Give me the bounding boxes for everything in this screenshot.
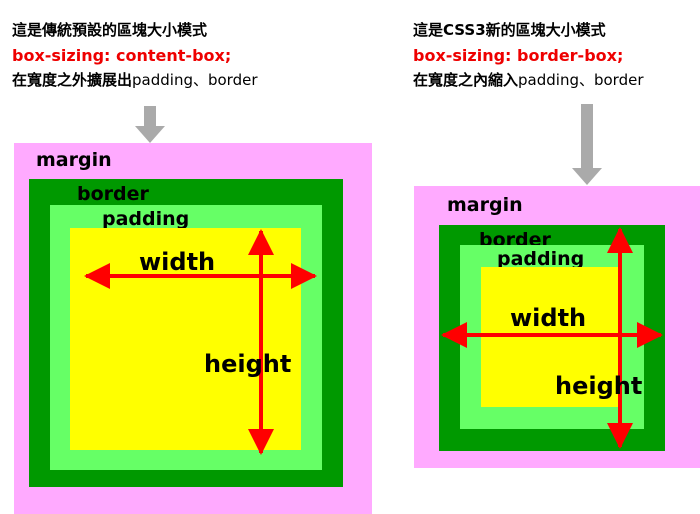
height-arrow-head-bottom xyxy=(248,429,274,455)
down-arrow-icon-right xyxy=(572,104,602,186)
height-label-left: height xyxy=(204,352,291,376)
caption-line-3-light: padding、border xyxy=(518,71,643,89)
height-label-right: height xyxy=(555,374,642,398)
width-arrow-head-left xyxy=(441,322,467,348)
arrow-head xyxy=(572,168,602,185)
caption-line-3: 在寬度之外擴展出padding、border xyxy=(12,68,258,93)
caption-line-1: 這是傳統預設的區塊大小模式 xyxy=(12,18,258,43)
caption-line-3: 在寬度之內縮入padding、border xyxy=(413,68,644,93)
caption-line-2-code: box-sizing: border-box; xyxy=(413,43,644,68)
caption-line-1: 這是CSS3新的區塊大小模式 xyxy=(413,18,644,43)
padding-label-left: padding xyxy=(102,210,189,229)
width-arrow-bar xyxy=(443,333,661,337)
height-arrow-bar xyxy=(618,229,622,447)
border-box-right: border padding xyxy=(439,225,665,451)
margin-label-left: margin xyxy=(36,151,112,170)
height-arrow-head-bottom xyxy=(607,423,633,449)
caption-line-3-bold: 在寬度之內縮入 xyxy=(413,71,518,89)
caption-line-3-bold: 在寬度之外擴展出 xyxy=(12,71,132,89)
width-label-left: width xyxy=(139,250,215,274)
caption-line-2-code: box-sizing: content-box; xyxy=(12,43,258,68)
width-arrow-head-left xyxy=(84,263,110,289)
arrow-shaft xyxy=(581,104,593,170)
width-label-right: width xyxy=(510,306,586,330)
padding-box-left: padding xyxy=(50,205,322,470)
diagram-canvas: 這是傳統預設的區塊大小模式 box-sizing: content-box; 在… xyxy=(0,0,700,514)
height-arrow-head-top xyxy=(248,229,274,255)
margin-box-left: margin border padding width height xyxy=(14,143,372,514)
border-label-left: border xyxy=(77,185,149,204)
caption-content-box: 這是傳統預設的區塊大小模式 box-sizing: content-box; 在… xyxy=(12,18,258,93)
down-arrow-icon-left xyxy=(135,106,165,143)
arrow-shaft xyxy=(144,106,156,128)
border-box-left: border padding xyxy=(29,179,343,487)
caption-border-box: 這是CSS3新的區塊大小模式 box-sizing: border-box; 在… xyxy=(413,18,644,93)
margin-box-right: margin border padding width height xyxy=(414,186,700,468)
arrow-head xyxy=(135,126,165,143)
width-arrow-head-right xyxy=(637,322,663,348)
padding-box-right: padding xyxy=(460,245,644,429)
margin-label-right: margin xyxy=(447,196,523,215)
height-arrow-bar xyxy=(259,231,263,453)
caption-line-3-light: padding、border xyxy=(132,71,257,89)
width-arrow-head-right xyxy=(291,263,317,289)
height-arrow-head-top xyxy=(607,227,633,253)
